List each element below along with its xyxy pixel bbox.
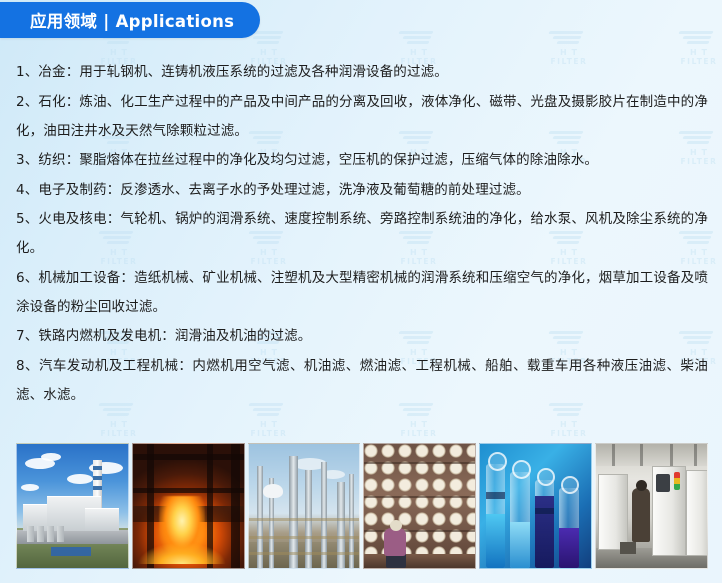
application-item-5: 5、火电及核电：气轮机、锅炉的润滑系统、速度控制系统、旁路控制系统油的净化，给水… bbox=[16, 205, 708, 263]
creel-rack bbox=[364, 496, 475, 498]
watermark-line1: H T bbox=[214, 421, 324, 429]
watermark-line1: H T bbox=[364, 421, 474, 429]
application-photo-strip bbox=[16, 443, 708, 569]
machine-operator bbox=[632, 488, 650, 542]
cloud-shape bbox=[41, 453, 61, 461]
creel-rack bbox=[364, 462, 475, 464]
applications-title-badge: 应用领域 | Applications bbox=[0, 2, 260, 38]
stack-band bbox=[93, 466, 102, 470]
application-item-4: 4、电子及制药：反渗透水、去离子水的予处理过滤，洗净液及葡萄糖的前处理过滤。 bbox=[16, 176, 708, 205]
pipe-rack bbox=[249, 518, 360, 521]
stack-band bbox=[93, 476, 102, 480]
photo-textile-mill bbox=[363, 443, 476, 569]
pipe-rack bbox=[249, 552, 360, 555]
parts-crate bbox=[620, 542, 636, 554]
application-item-7: 7、铁路内燃机及发电机：润滑油及机油的过滤。 bbox=[16, 322, 708, 351]
applications-page: H T FILTER H T FILTER H T FILTER H T FIL… bbox=[0, 0, 722, 583]
photo-power-plant bbox=[16, 443, 129, 569]
watermark-line1: H T bbox=[514, 421, 624, 429]
header-row: 应用领域 | Applications bbox=[0, 0, 722, 40]
application-item-8: 8、汽车发动机及工程机械：内燃机用空气滤、机油滤、燃油滤、工程机械、船舶、载重车… bbox=[16, 352, 708, 410]
plant-building bbox=[85, 508, 119, 531]
cylinder-liquid bbox=[535, 496, 554, 568]
watermark-line2: FILTER bbox=[214, 430, 324, 438]
cooling-tank bbox=[47, 526, 54, 542]
ceiling-joist bbox=[612, 444, 615, 466]
watermark-line1: H T bbox=[64, 421, 174, 429]
application-item-2: 2、石化：炼油、化工生产过程中的产品及中间产品的分离及回收，液体净化、磁带、光盘… bbox=[16, 88, 708, 146]
photo-refinery bbox=[248, 443, 361, 569]
application-item-1: 1、冶金：用于轧钢机、连铸机液压系统的过滤及各种润滑设备的过滤。 bbox=[16, 58, 708, 87]
cylinder-liquid bbox=[510, 522, 530, 568]
watermark-line2: FILTER bbox=[64, 430, 174, 438]
spark-glow bbox=[133, 534, 244, 564]
cnc-machine bbox=[598, 474, 628, 550]
cloud-shape bbox=[21, 484, 39, 491]
machine-control-panel bbox=[656, 474, 670, 492]
stack-band bbox=[93, 486, 102, 490]
site-lot bbox=[51, 547, 91, 556]
creel-rack bbox=[364, 530, 475, 532]
mill-floor bbox=[364, 554, 475, 568]
watermark-line2: FILTER bbox=[364, 430, 474, 438]
watermark-line2: FILTER bbox=[514, 430, 624, 438]
ceiling-joist bbox=[670, 444, 673, 466]
application-item-3: 3、纺织：聚脂熔体在拉丝过程中的净化及均匀过滤，空压机的保护过滤，压缩气体的除油… bbox=[16, 146, 708, 175]
photo-steel-mill bbox=[132, 443, 245, 569]
cylinder-liquid bbox=[559, 528, 579, 568]
cooling-tank bbox=[37, 526, 44, 542]
cooling-tank bbox=[27, 526, 34, 542]
ceiling-joist bbox=[640, 444, 643, 466]
cooling-tank bbox=[57, 526, 64, 542]
pipe-rack bbox=[249, 536, 360, 539]
application-item-6: 6、机械加工设备：造纸机械、矿业机械、注塑机及大型精密机械的润滑系统和压缩空气的… bbox=[16, 264, 708, 322]
photo-cnc-workshop bbox=[595, 443, 708, 569]
photo-lab-glassware bbox=[479, 443, 592, 569]
distillation-tower bbox=[337, 482, 345, 569]
page-title: 应用领域 | Applications bbox=[30, 8, 234, 32]
storage-dome bbox=[263, 484, 283, 498]
cylinder-label bbox=[535, 508, 554, 514]
cloud-shape bbox=[67, 474, 93, 484]
status-tower-lamp bbox=[674, 472, 680, 490]
cnc-machine bbox=[686, 470, 708, 556]
worker-body bbox=[384, 528, 406, 556]
cylinder-label bbox=[486, 492, 505, 499]
ceiling-joist bbox=[694, 444, 697, 466]
applications-list: 1、冶金：用于轧钢机、连铸机液压系统的过滤及各种润滑设备的过滤。 2、石化：炼油… bbox=[0, 40, 722, 410]
cylinder-liquid bbox=[486, 514, 505, 568]
